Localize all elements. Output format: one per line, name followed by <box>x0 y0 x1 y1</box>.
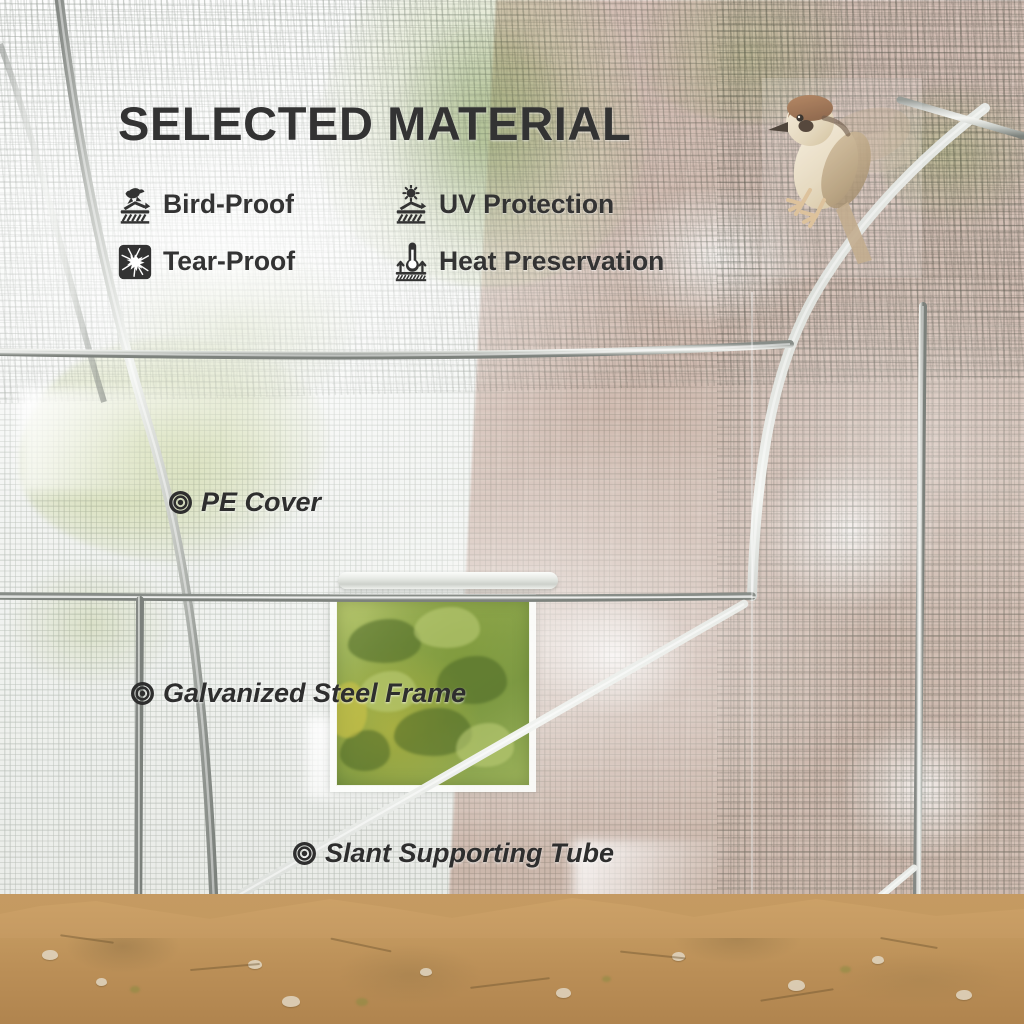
feature-list: Bird-Proof <box>116 176 736 290</box>
tear-proof-icon <box>116 242 154 282</box>
greenhouse-scene <box>0 0 1024 1024</box>
callout-pe-cover: PE Cover <box>168 487 321 518</box>
feature-row: Tear-Proof <box>116 233 736 290</box>
target-marker-icon <box>168 490 193 515</box>
callout-slant-supporting-tube: Slant Supporting Tube <box>292 838 614 869</box>
heat-preservation-icon <box>392 242 430 282</box>
product-feature-image: SELECTED MATERIAL <box>0 0 1024 1024</box>
feature-item-tear-proof: Tear-Proof <box>116 242 392 282</box>
feature-item-bird-proof: Bird-Proof <box>116 185 392 225</box>
target-marker-icon <box>292 841 317 866</box>
callout-label: PE Cover <box>201 487 321 518</box>
feature-label: Tear-Proof <box>163 246 295 277</box>
callout-galvanized-steel-frame: Galvanized Steel Frame <box>130 678 466 709</box>
feature-label: Heat Preservation <box>439 246 664 277</box>
feature-item-heat-preservation: Heat Preservation <box>392 242 664 282</box>
feature-row: Bird-Proof <box>116 176 736 233</box>
page-title: SELECTED MATERIAL <box>118 96 631 151</box>
sparrow-bird <box>762 78 922 278</box>
target-marker-icon <box>130 681 155 706</box>
feature-label: Bird-Proof <box>163 189 294 220</box>
feature-item-uv-protection: UV Protection <box>392 185 614 225</box>
uv-protection-icon <box>392 185 430 225</box>
callout-label: Galvanized Steel Frame <box>163 678 466 709</box>
bird-proof-icon <box>116 185 154 225</box>
callout-label: Slant Supporting Tube <box>325 838 614 869</box>
feature-label: UV Protection <box>439 189 614 220</box>
soil-ground <box>0 894 1024 1024</box>
